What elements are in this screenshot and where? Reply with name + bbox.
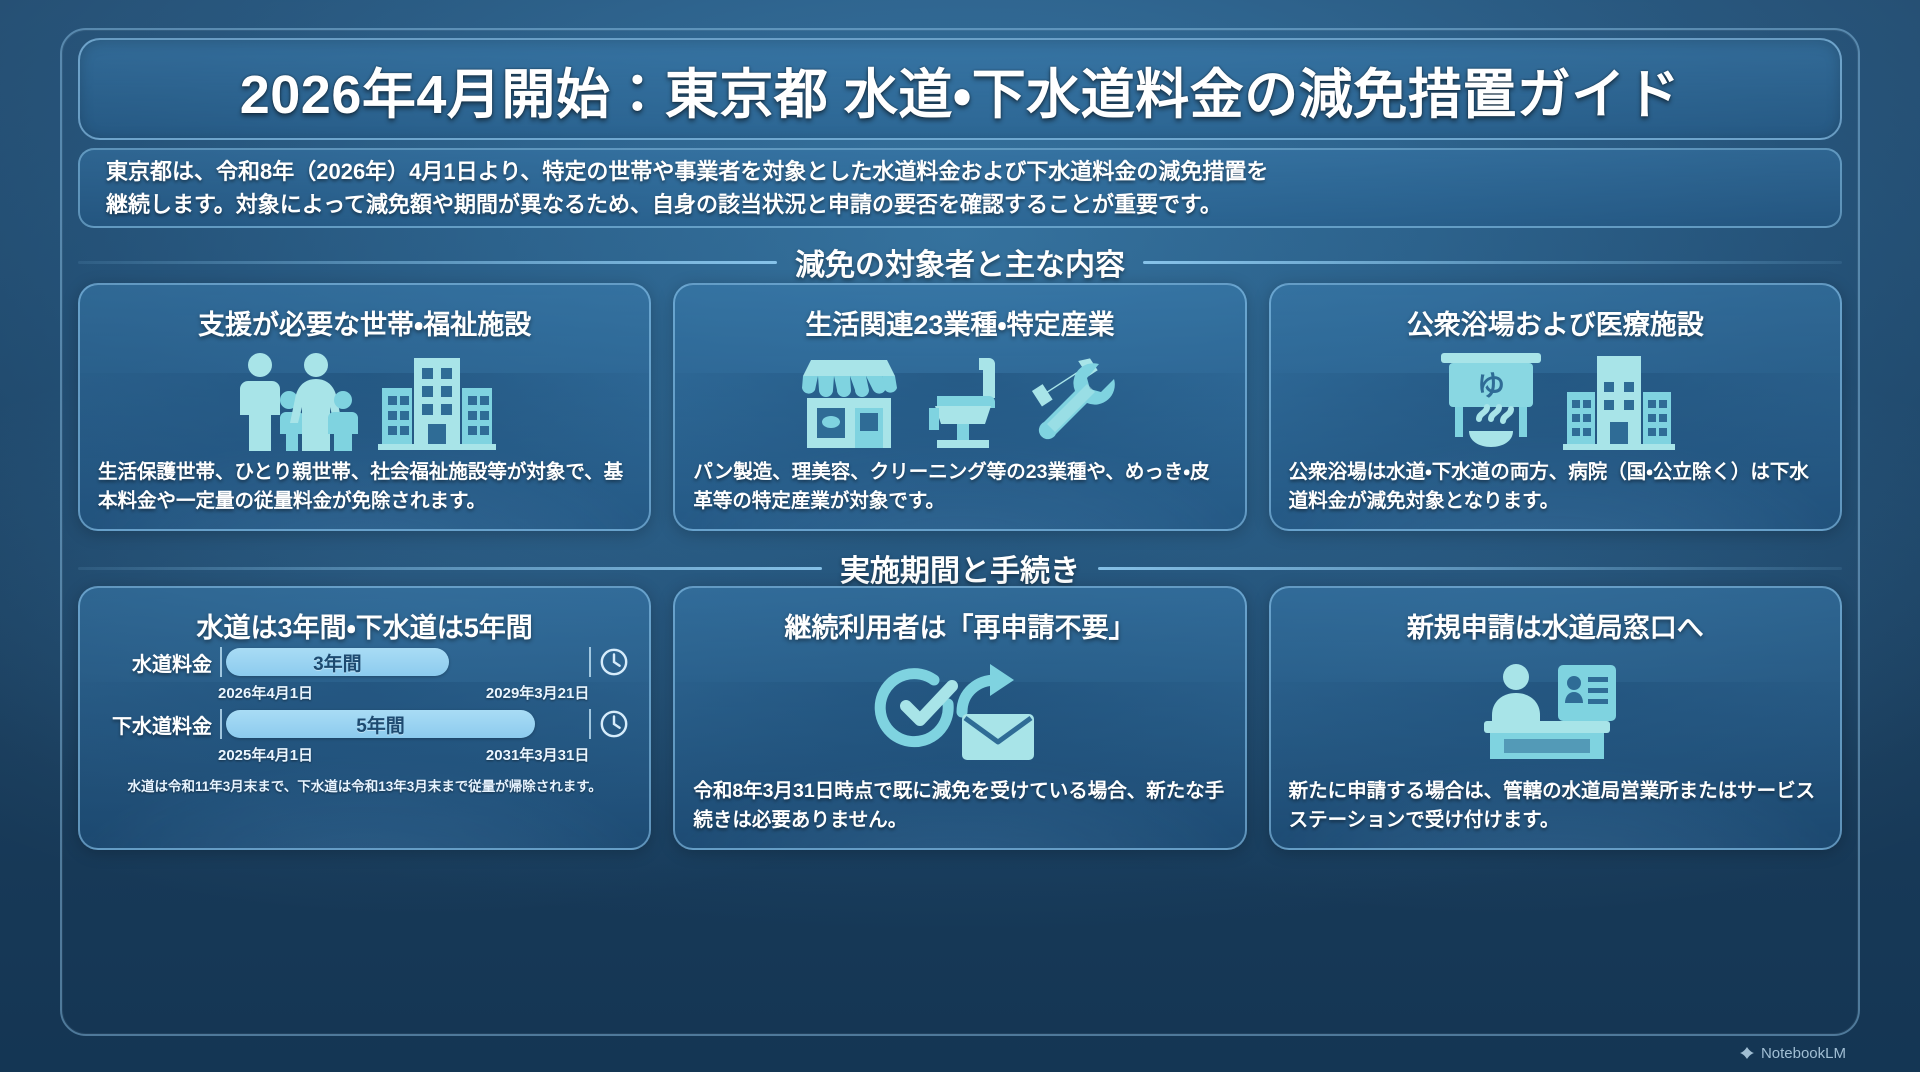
timeline-dates-sewage: 2025年4月1日 2031年3月31日: [218, 744, 629, 765]
card-no-reapplication[interactable]: 継続利用者は「再申請不要」 令和8年3月31日時点で既に減免を受けている場合、新…: [673, 586, 1246, 850]
check-circle-arrow-icon: [870, 658, 1050, 764]
timeline-start-date: 2025年4月1日: [218, 744, 313, 765]
timeline-track: 5年間: [220, 709, 591, 739]
card-body: 公衆浴場は水道・下水道の両方、病院（国・公立除く）は下水道料金が減免対象となりま…: [1287, 458, 1824, 519]
bakery-shop-icon: [797, 350, 901, 450]
card-title: 生活関連23業種・特定産業: [805, 303, 1114, 342]
card-icon-group: ゆ: [1287, 342, 1824, 458]
watermark-label: NotebookLM: [1761, 1045, 1846, 1062]
envelope-icon: [962, 714, 1034, 760]
card-bath-medical[interactable]: 公衆浴場および医療施設 ゆ: [1269, 283, 1842, 531]
card-title: 支援が必要な世帯・福祉施設: [198, 303, 531, 342]
timeline-row-water: 水道料金 3年間: [100, 647, 629, 677]
timeline-label: 水道料金: [100, 648, 212, 677]
card-title: 継続利用者は「再申請不要」: [784, 606, 1135, 645]
card-title: 新規申請は水道局窓口へ: [1407, 606, 1704, 645]
card-duration-timeline[interactable]: 水道は3年間・下水道は5年間 水道料金 3年間 2026年4月1日: [78, 586, 651, 850]
intro-line-2: 継続します。対象によって減免額や期間が異なるため、自身の該当状況と申請の要否を確…: [106, 188, 1268, 221]
timeline-bar-label: 3年間: [313, 649, 362, 676]
timeline-track: 3年間: [220, 647, 591, 677]
card-new-application[interactable]: 新規申請は水道局窓口へ: [1269, 586, 1842, 850]
id-card-icon: [1558, 665, 1616, 721]
card-body: 生活保護世帯、ひとり親世帯、社会福祉施設等が対象で、基本料金や一定量の従量料金が…: [96, 458, 633, 519]
building-icon: [378, 348, 496, 452]
timeline-bar: 5年間: [226, 710, 535, 738]
timeline-note: 水道は令和11年3月末まで、下水道は令和13年3月末まで従量が帰除されます。: [100, 775, 629, 795]
hammer-wrench-icon: [1025, 350, 1123, 450]
timeline-dates-water: 2026年4月1日 2029年3月21日: [218, 682, 629, 703]
timeline-bar: 3年間: [226, 648, 449, 676]
section-rule-right: [1143, 261, 1842, 264]
card-support-households[interactable]: 支援が必要な世帯・福祉施設: [78, 283, 651, 531]
clock-icon: [599, 647, 629, 677]
card-icon-group: [691, 342, 1228, 458]
hospital-icon: [1563, 348, 1675, 452]
intro-box: 東京都は、令和8年（2026年）4月1日より、特定の世帯や事業者を対象とした水道…: [78, 148, 1842, 228]
card-icon-group: [96, 342, 633, 458]
timeline-end-date: 2031年3月31日: [486, 744, 589, 765]
card-body: パン製造、理美容、クリーニング等の23業種や、めっき・皮革等の特定産業が対象です…: [691, 458, 1228, 519]
section-rule-left: [78, 567, 822, 570]
card-icon-group: [691, 645, 1228, 777]
timeline-chart: 水道料金 3年間 2026年4月1日 2029年3月21日: [96, 645, 633, 795]
counter-clerk-icon: [1470, 659, 1640, 763]
card-related-industries[interactable]: 生活関連23業種・特定産業: [673, 283, 1246, 531]
timeline-row-sewage: 下水道料金 5年間: [100, 709, 629, 739]
cards-row-1: 支援が必要な世帯・福祉施設: [78, 283, 1842, 531]
card-body: 令和8年3月31日時点で既に減免を受けている場合、新たな手続きは必要ありません。: [691, 777, 1228, 838]
timeline-label: 下水道料金: [100, 710, 212, 739]
card-icon-group: [1287, 645, 1824, 777]
timeline-end-date: 2029年3月21日: [486, 682, 589, 703]
section-title-2: 実施期間と手続き: [840, 546, 1080, 590]
section-title-1: 減免の対象者と主な内容: [795, 240, 1125, 284]
family-icon: [234, 348, 362, 452]
section-header-2: 実施期間と手続き: [78, 546, 1842, 590]
card-title: 水道は3年間・下水道は5年間: [197, 606, 533, 645]
page-title: 2026年4月開始：東京都 水道・下水道料金の減免措置ガイド: [240, 50, 1681, 129]
section-header-1: 減免の対象者と主な内容: [78, 240, 1842, 284]
infographic-poster: 2026年4月開始：東京都 水道・下水道料金の減免措置ガイド 東京都は、令和8年…: [0, 0, 1920, 1072]
card-body: 新たに申請する場合は、管轄の水道局営業所またはサービスステーションで受け付けます…: [1287, 777, 1824, 838]
cards-row-2: 水道は3年間・下水道は5年間 水道料金 3年間 2026年4月1日: [78, 586, 1842, 850]
timeline-start-date: 2026年4月1日: [218, 682, 313, 703]
intro-text: 東京都は、令和8年（2026年）4月1日より、特定の世帯や事業者を対象とした水道…: [106, 155, 1268, 221]
barber-chair-icon: [917, 350, 1009, 450]
clock-icon: [599, 709, 629, 739]
section-rule-right: [1098, 567, 1842, 570]
notebooklm-icon: [1739, 1046, 1755, 1062]
timeline-bar-label: 5年間: [356, 711, 405, 738]
svg-text:ゆ: ゆ: [1477, 370, 1505, 401]
intro-line-1: 東京都は、令和8年（2026年）4月1日より、特定の世帯や事業者を対象とした水道…: [106, 155, 1268, 188]
public-bath-icon: ゆ: [1435, 347, 1547, 453]
title-bar: 2026年4月開始：東京都 水道・下水道料金の減免措置ガイド: [78, 38, 1842, 140]
card-title: 公衆浴場および医療施設: [1407, 303, 1704, 342]
section-rule-left: [78, 261, 777, 264]
watermark: NotebookLM: [1739, 1045, 1846, 1062]
